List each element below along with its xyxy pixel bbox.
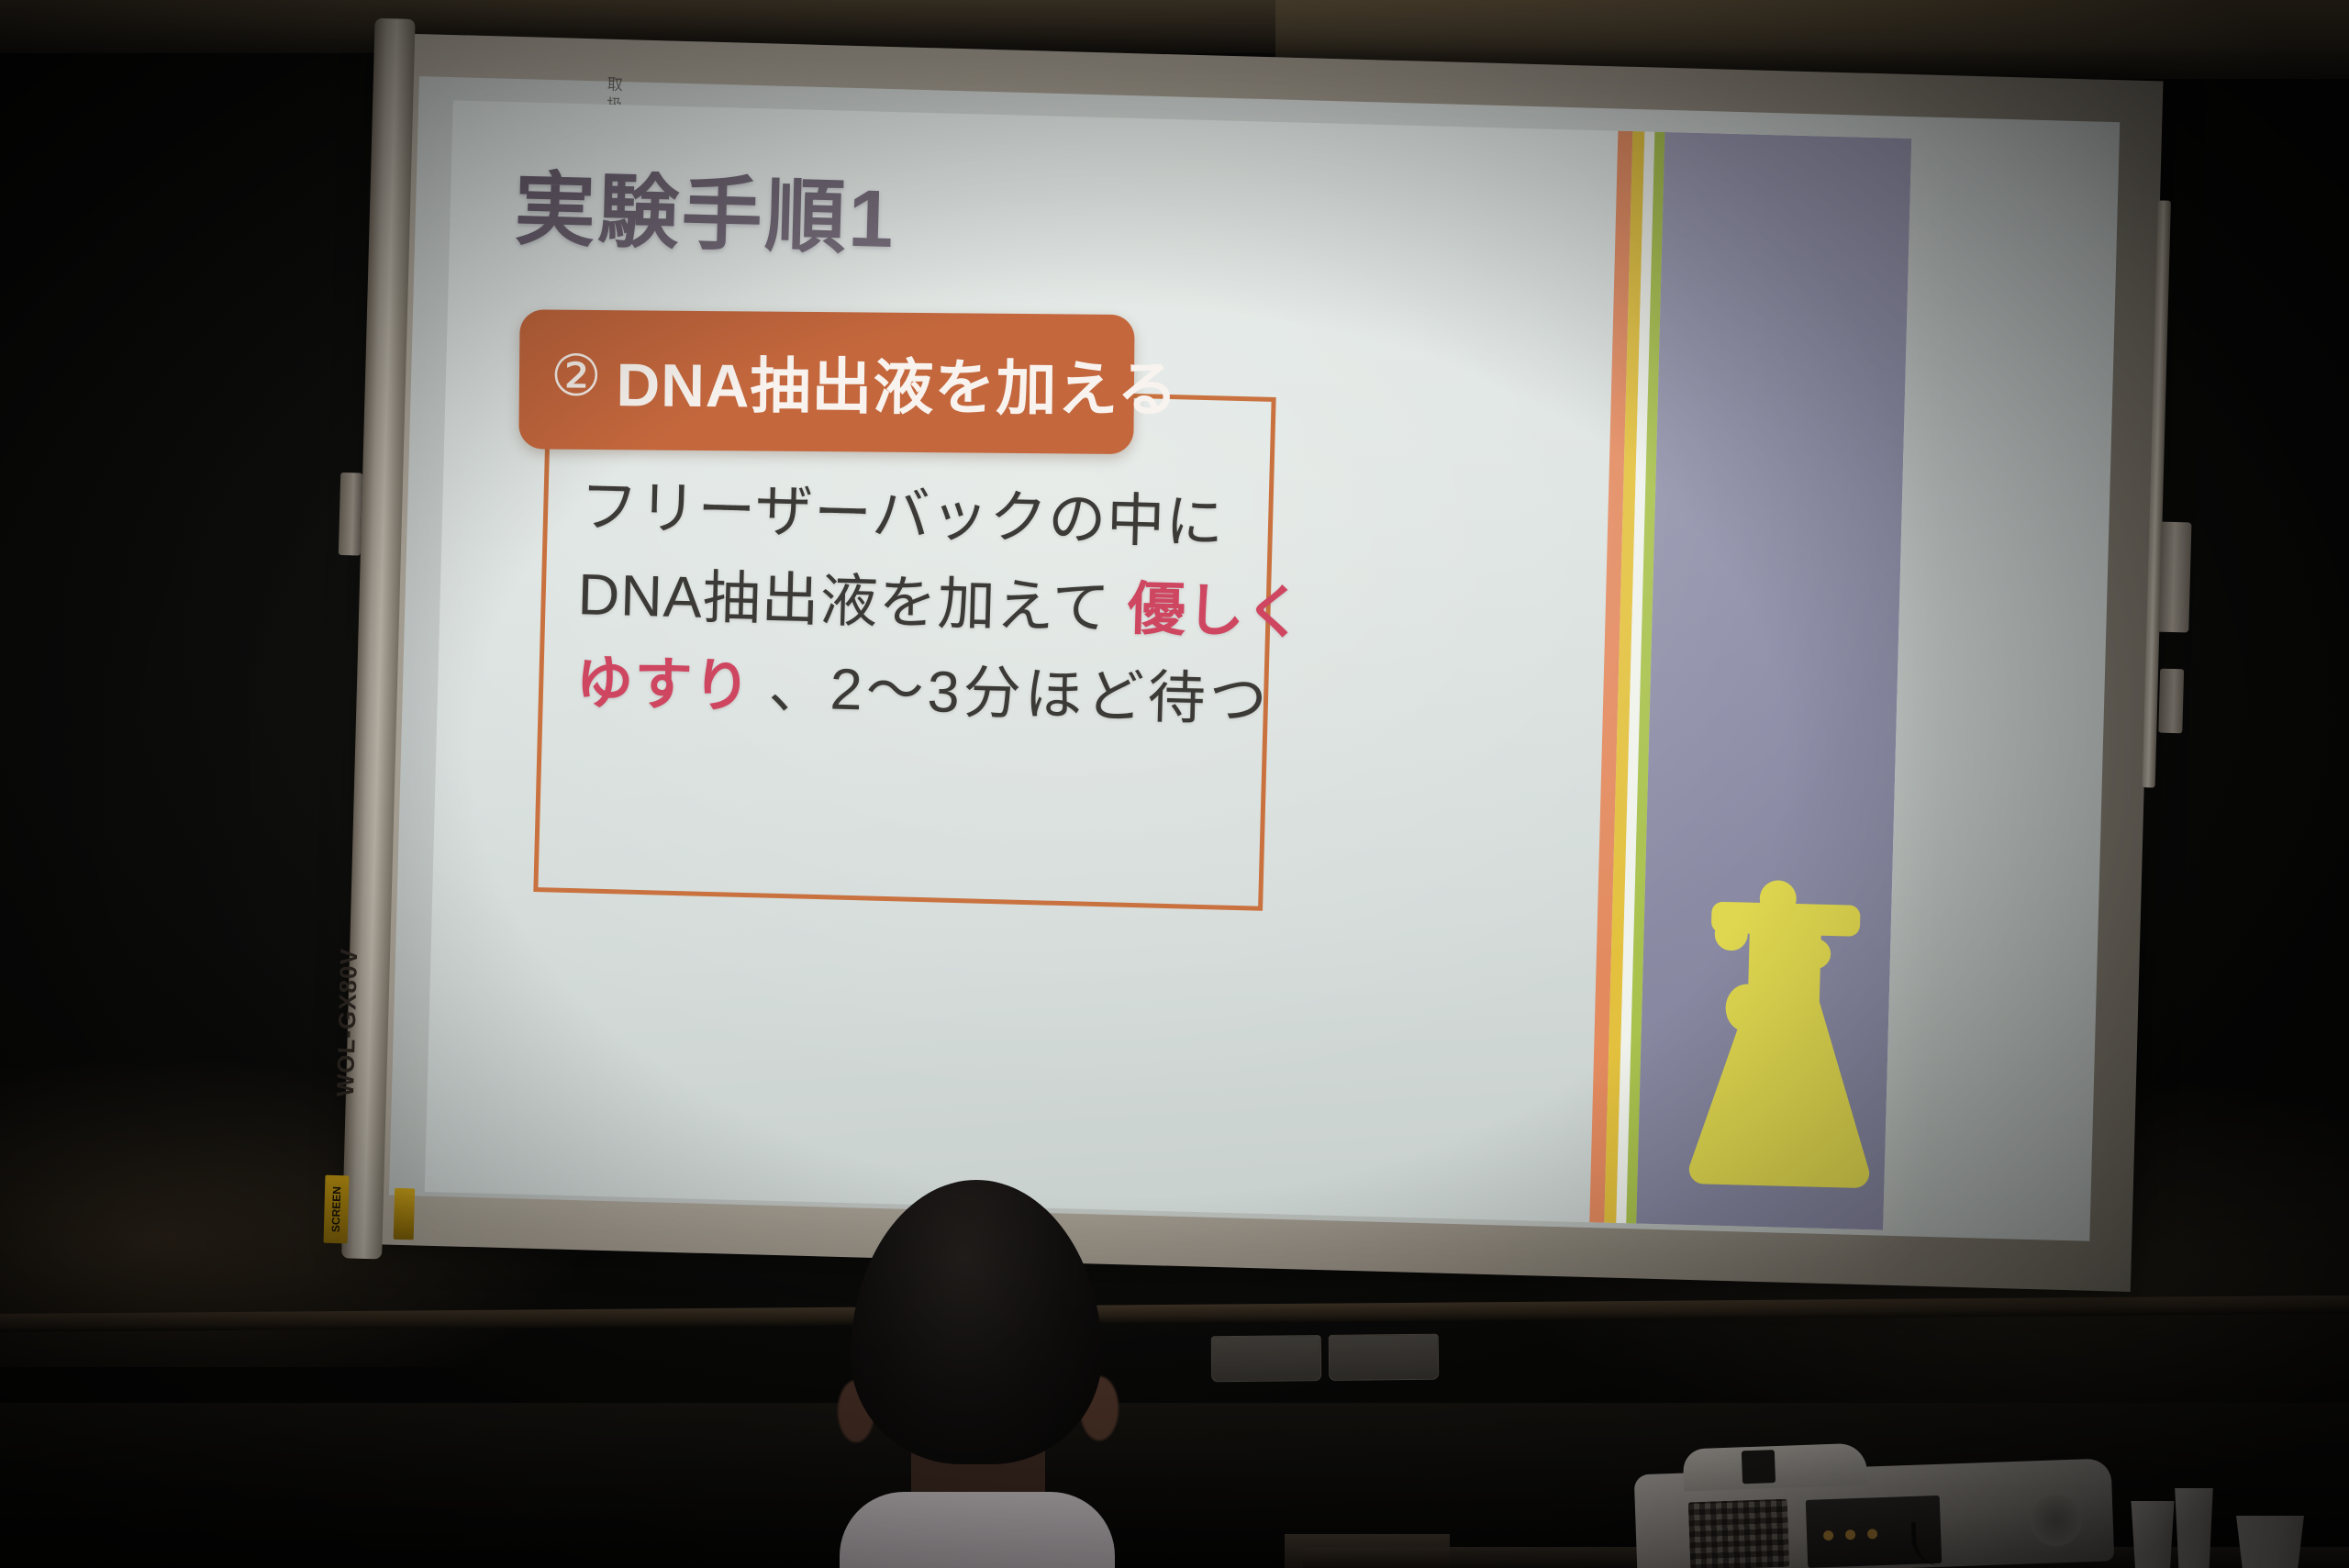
slide-decoration-band [1589,131,1911,1230]
erlenmeyer-flask-icon [1664,878,1883,1200]
projector-lens-cap [1742,1450,1776,1484]
paper-cup [2232,1516,2309,1568]
screenshot-root: 取扱説明書 巻取式スクリーン WOL-GX80V SCREEN [0,0,2349,1568]
slide-body-text: フリーザーバックの中に DNA抽出液を加えて 優しく ゆすり 、2〜3分ほど待つ [574,463,1572,752]
port-connector [1845,1529,1855,1540]
slide-step-banner: ② DNA抽出液を加える [518,309,1134,454]
port-connector [1867,1529,1877,1539]
port-connector [1823,1530,1833,1540]
screen-left-mount [339,473,362,556]
flask-shape [1664,878,1883,1195]
body-segment: DNA抽出液を加えて [577,562,1129,641]
hair [851,1180,1102,1464]
projector [1633,1434,2132,1568]
slide-title: 実験手順1 [513,144,897,271]
projector-vent-grille [1688,1499,1790,1568]
screen-model-label: WOL-GX80V [331,948,363,1097]
screen-brand-chip-secondary [394,1188,416,1240]
projected-slide: 実験手順1 ② DNA抽出液を加える フリーザーバックの中に DNA抽出液を加え… [425,100,1912,1229]
chalk-tray-items [1211,1334,1440,1383]
eraser-item [1329,1334,1440,1381]
body-segment-highlight: ゆすり [574,651,752,719]
eraser-item [1211,1335,1322,1382]
body-segment: フリーザーバックの中に [579,474,1225,555]
step-banner-label: DNA抽出液を加える [616,336,1179,428]
screen-right-mount-lower [2158,669,2184,734]
screen-brand-chip-text: SCREEN [324,1175,350,1244]
body-segment-highlight: 優しく [1127,577,1305,646]
student-head-foreground [830,1180,1124,1568]
body-segment: 、2〜3分ほど待つ [768,655,1272,732]
slide-side-panel [1636,132,1911,1230]
step-number-badge: ② [551,349,602,406]
paper-cup [2127,1501,2178,1568]
shirt-collar [840,1492,1115,1568]
